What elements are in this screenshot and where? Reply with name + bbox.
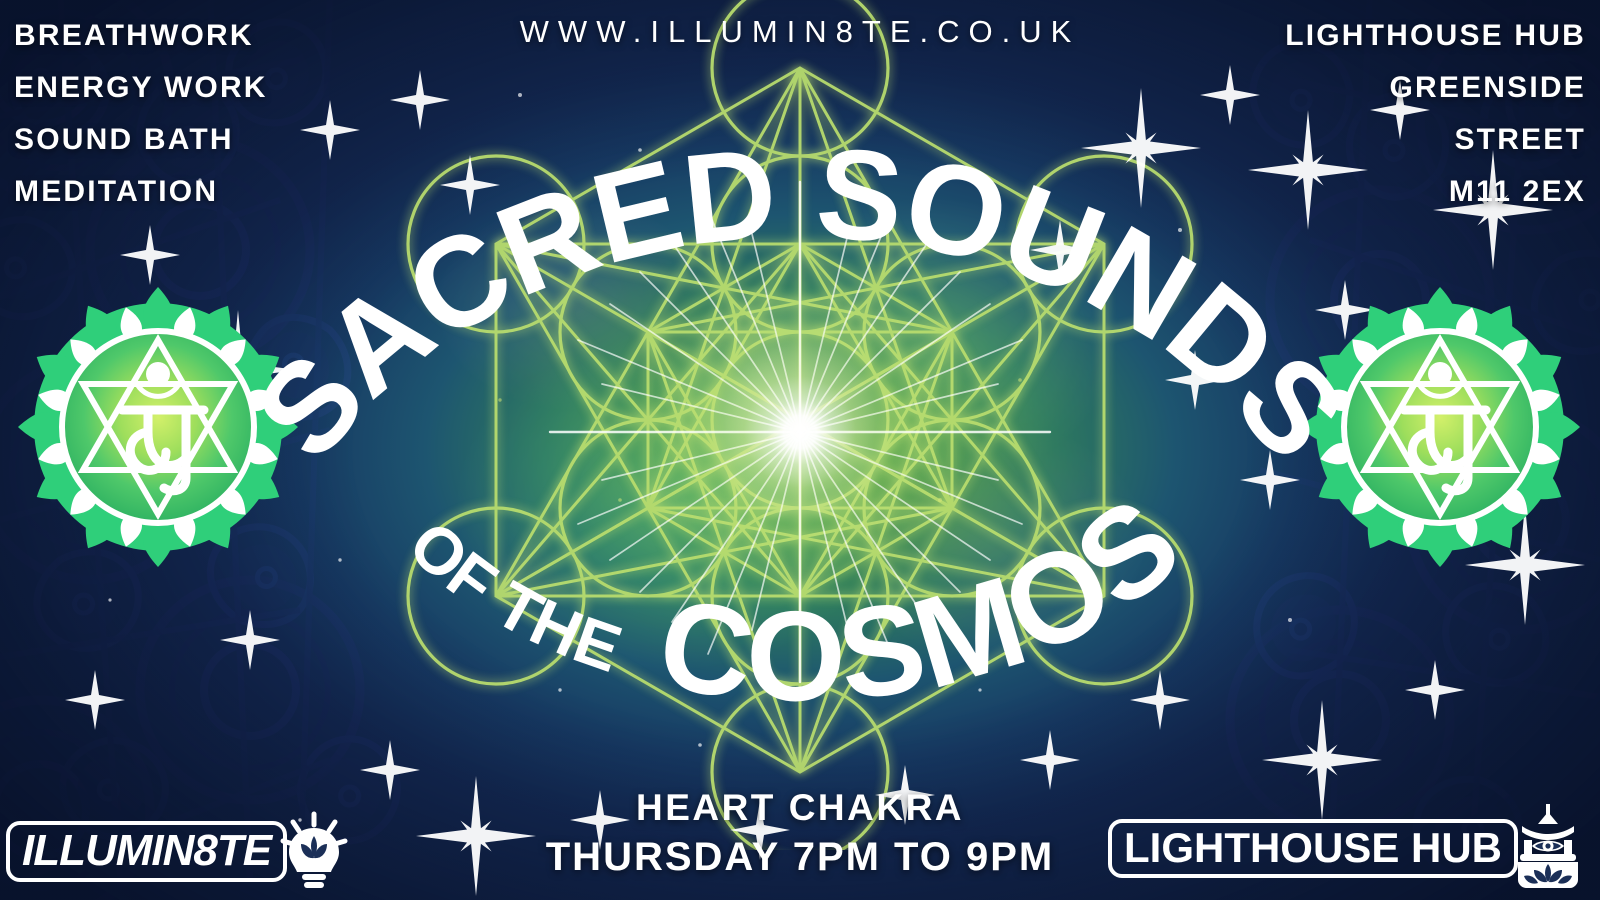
venue-street-2: STREET bbox=[1156, 114, 1586, 166]
event-poster: SACRED SOUNDS OF THE COSMOS BREATHWORK E… bbox=[0, 0, 1600, 900]
service-item-energy-work: ENERGY WORK bbox=[14, 62, 434, 114]
heart-chakra-symbol-left bbox=[18, 282, 298, 572]
illuminate-logo[interactable]: ILLUMIN8TE bbox=[6, 808, 357, 894]
venue-postcode: M11 2EX bbox=[1156, 166, 1586, 218]
lightbulb-lotus-icon bbox=[271, 808, 357, 894]
lighthouse-eye-lotus-icon bbox=[1502, 802, 1594, 894]
illuminate-logo-text: ILLUMIN8TE bbox=[22, 829, 271, 873]
venue-address: LIGHTHOUSE HUB GREENSIDE STREET M11 2EX bbox=[1156, 10, 1586, 218]
illuminate-logo-plate: ILLUMIN8TE bbox=[6, 821, 287, 882]
heart-chakra-symbol-right bbox=[1300, 282, 1580, 572]
service-item-sound-bath: SOUND BATH bbox=[14, 114, 434, 166]
lighthouse-logo-text: LIGHTHOUSE HUB bbox=[1124, 827, 1502, 869]
lighthouse-logo-plate: LIGHTHOUSE HUB bbox=[1108, 819, 1518, 878]
service-item-meditation: MEDITATION bbox=[14, 166, 434, 218]
venue-street-1: GREENSIDE bbox=[1156, 62, 1586, 114]
lighthouse-hub-logo[interactable]: LIGHTHOUSE HUB bbox=[1108, 802, 1594, 894]
venue-name: LIGHTHOUSE HUB bbox=[1156, 10, 1586, 62]
